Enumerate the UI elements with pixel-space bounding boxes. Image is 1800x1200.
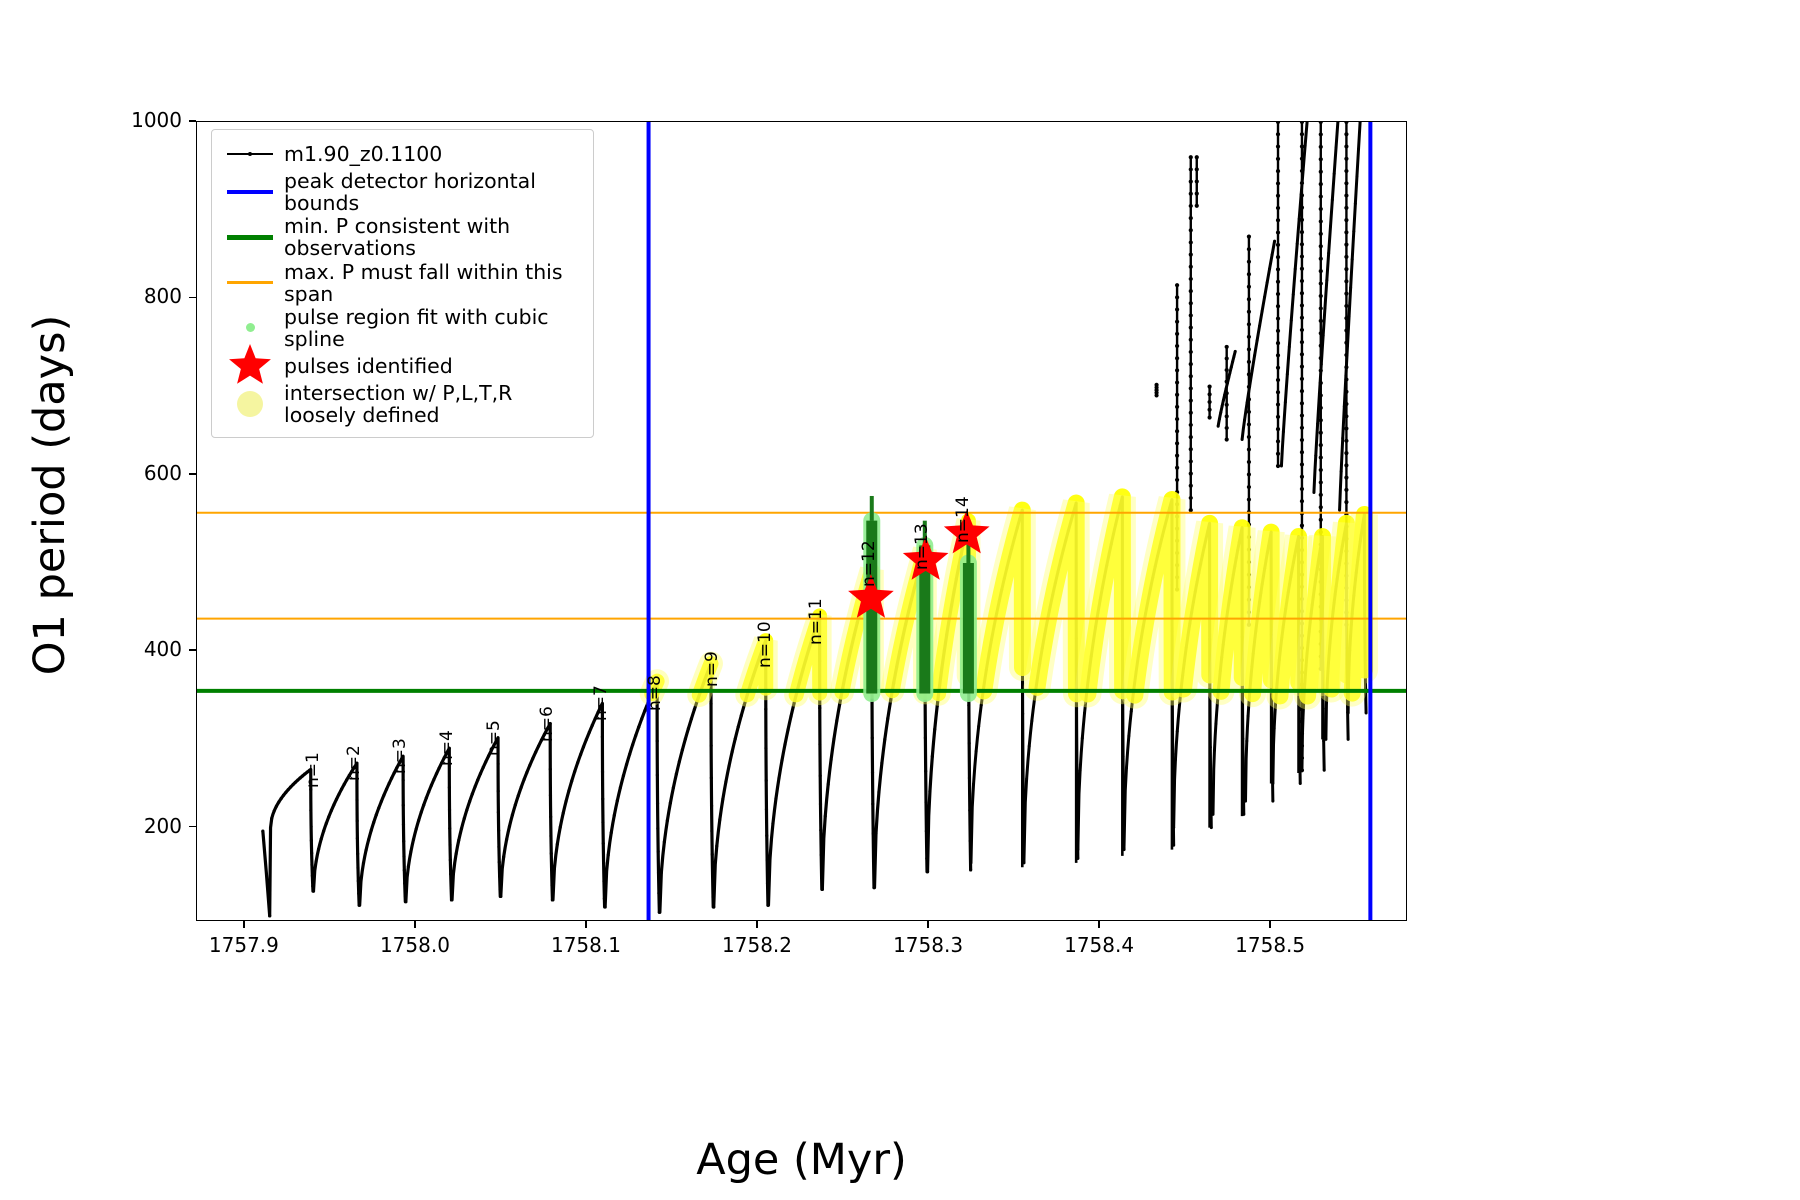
x-tick-mark bbox=[927, 921, 929, 928]
legend: m1.90_z0.1100peak detector horizontal bo… bbox=[211, 129, 594, 438]
legend-entry-label: pulses identified bbox=[278, 355, 453, 377]
x-tick-mark bbox=[414, 921, 416, 928]
legend-entry: m1.90_z0.1100 bbox=[222, 139, 583, 169]
cycle-label: n=5 bbox=[484, 720, 504, 756]
cycle-label: n=2 bbox=[344, 745, 364, 781]
legend-big-dot-icon bbox=[222, 389, 278, 419]
legend-entry: pulse region fit with cubic spline bbox=[222, 306, 583, 350]
x-tick-mark bbox=[243, 921, 245, 928]
y-axis-label: O1 period (days) bbox=[25, 215, 75, 775]
y-tick-label: 400 bbox=[112, 637, 182, 661]
legend-entry: peak detector horizontal bounds bbox=[222, 170, 583, 214]
cycle-label: n=14 bbox=[953, 497, 973, 544]
legend-line-icon bbox=[222, 222, 278, 252]
y-tick-label: 800 bbox=[112, 284, 182, 308]
cycle-label: n=12 bbox=[859, 541, 879, 588]
cycle-label: n=1 bbox=[303, 752, 323, 788]
x-tick-mark bbox=[1098, 921, 1100, 928]
legend-entry-label: intersection w/ P,L,T,R loosely defined bbox=[278, 382, 512, 426]
y-tick-mark bbox=[189, 649, 196, 651]
cycle-label: n=6 bbox=[537, 706, 557, 742]
x-tick-label: 1758.4 bbox=[1039, 933, 1159, 957]
x-tick-label: 1758.2 bbox=[697, 933, 817, 957]
x-tick-mark bbox=[585, 921, 587, 928]
legend-entry-label: min. P consistent with observations bbox=[278, 215, 583, 259]
legend-entry-label: peak detector horizontal bounds bbox=[278, 170, 583, 214]
cycle-label: n=9 bbox=[702, 651, 722, 687]
cycle-label: n=10 bbox=[755, 621, 775, 668]
x-tick-label: 1758.5 bbox=[1210, 933, 1330, 957]
cycle-label: n=3 bbox=[390, 738, 410, 774]
x-tick-mark bbox=[756, 921, 758, 928]
y-tick-label: 600 bbox=[112, 461, 182, 485]
x-tick-mark bbox=[1269, 921, 1271, 928]
x-tick-label: 1758.3 bbox=[868, 933, 988, 957]
legend-entry: max. P must fall within this span bbox=[222, 261, 583, 305]
y-tick-mark bbox=[189, 826, 196, 828]
legend-entry: min. P consistent with observations bbox=[222, 215, 583, 259]
x-axis-label: Age (Myr) bbox=[196, 1135, 1407, 1185]
legend-entry-label: max. P must fall within this span bbox=[278, 261, 583, 305]
y-tick-label: 200 bbox=[112, 814, 182, 838]
cycle-label: n=13 bbox=[912, 523, 932, 570]
legend-entry: intersection w/ P,L,T,R loosely defined bbox=[222, 382, 583, 426]
cycle-label: n=7 bbox=[591, 686, 611, 722]
legend-star-icon bbox=[222, 351, 278, 381]
figure-canvas: n=1n=2n=3n=4n=5n=6n=7n=8n=9n=10n=11n=12n… bbox=[0, 0, 1800, 1200]
y-tick-mark bbox=[189, 473, 196, 475]
legend-entry-label: pulse region fit with cubic spline bbox=[278, 306, 583, 350]
y-tick-mark bbox=[189, 297, 196, 299]
y-tick-mark bbox=[189, 120, 196, 122]
x-tick-label: 1758.0 bbox=[355, 933, 475, 957]
x-tick-label: 1757.9 bbox=[184, 933, 304, 957]
legend-line-icon bbox=[222, 268, 278, 298]
legend-line-marker-icon bbox=[222, 139, 278, 169]
x-tick-label: 1758.1 bbox=[526, 933, 646, 957]
legend-line-icon bbox=[222, 177, 278, 207]
y-tick-label: 1000 bbox=[112, 108, 182, 132]
legend-dot-icon bbox=[222, 313, 278, 343]
cycle-label: n=4 bbox=[437, 731, 457, 767]
cycle-label: n=8 bbox=[645, 675, 665, 711]
legend-entry-label: m1.90_z0.1100 bbox=[278, 143, 442, 165]
cycle-label: n=11 bbox=[806, 598, 826, 645]
legend-entry: pulses identified bbox=[222, 351, 583, 381]
